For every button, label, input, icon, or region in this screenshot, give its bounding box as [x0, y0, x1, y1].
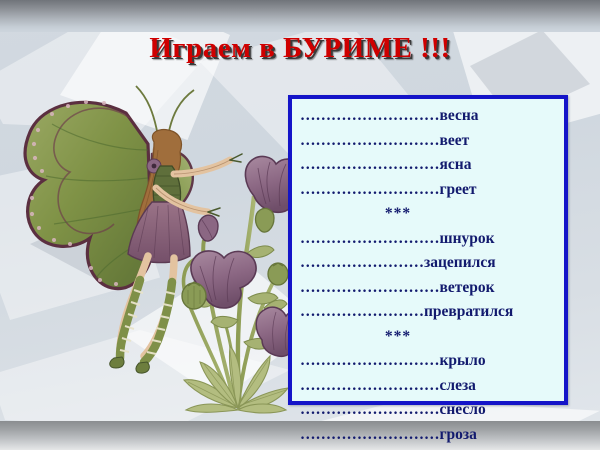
poem-line-word: крыло: [440, 352, 486, 370]
poem-line: ………………………веет: [300, 132, 554, 157]
poem-line: ………………………гроза: [300, 426, 554, 450]
poppy-bud: [198, 215, 218, 241]
poem-line-dots: ………………………: [300, 230, 440, 248]
poem-line: ………………………крыло: [300, 352, 554, 377]
poem-line: ……………………превратился: [300, 303, 554, 328]
poem-line-dots: ………………………: [300, 401, 440, 419]
poem-line-word: гроза: [440, 426, 477, 444]
poem-line-word: зацепился: [424, 254, 496, 272]
poem-line: ………………………весна: [300, 107, 554, 132]
poem-line-dots: ………………………: [300, 156, 440, 174]
poppy-seed-pod: [268, 263, 288, 285]
stanza-separator: ***: [300, 328, 554, 353]
poem-line-word: ясна: [440, 156, 472, 174]
poem-line: ………………………ветерок: [300, 279, 554, 304]
poem-line-dots: ………………………: [300, 377, 440, 395]
top-gradient-band: [0, 0, 600, 32]
poem-line-dots: ………………………: [300, 181, 440, 199]
poem-line: ……………………зацепился: [300, 254, 554, 279]
page-title: Играем в БУРИМЕ !!!: [0, 32, 600, 65]
poem-line-word: весна: [440, 107, 479, 125]
poem-line: ………………………слеза: [300, 377, 554, 402]
poppy-bud: [256, 208, 275, 232]
poppy-plant: [182, 157, 288, 413]
poem-line-dots: ……………………: [300, 303, 424, 321]
poem-line-word: снесло: [440, 401, 486, 419]
poem-line: ………………………греет: [300, 181, 554, 206]
stanza-separator: ***: [300, 205, 554, 230]
slide-canvas: Играем в БУРИМЕ !!!: [0, 0, 600, 450]
poem-line-word: ветерок: [440, 279, 495, 297]
poem-text-box: ………………………весна ………………………веет ………………………яс…: [288, 95, 568, 405]
poem-line-word: слеза: [440, 377, 476, 395]
poem-line-word: веет: [440, 132, 470, 150]
poem-line-dots: ……………………: [300, 254, 424, 272]
poem-line-word: греет: [440, 181, 477, 199]
poem-line-dots: ………………………: [300, 132, 440, 150]
poem-line-dots: ………………………: [300, 426, 440, 444]
poem-line: ………………………шнурок: [300, 230, 554, 255]
poem-line: ………………………снесло: [300, 401, 554, 426]
poem-line-dots: ………………………: [300, 352, 440, 370]
fairy-antennae: [136, 86, 194, 136]
poem-line-dots: ………………………: [300, 107, 440, 125]
fairy-with-poppies-illustration: [8, 58, 288, 428]
poem-lines-container: ………………………весна ………………………веет ………………………яс…: [300, 107, 554, 450]
poppy-seed-pod: [182, 282, 206, 309]
poem-line-word: превратился: [424, 303, 513, 321]
poem-line-word: шнурок: [440, 230, 495, 248]
poppy-foliage: [184, 346, 288, 413]
poem-line-dots: ………………………: [300, 279, 440, 297]
poem-line: ………………………ясна: [300, 156, 554, 181]
